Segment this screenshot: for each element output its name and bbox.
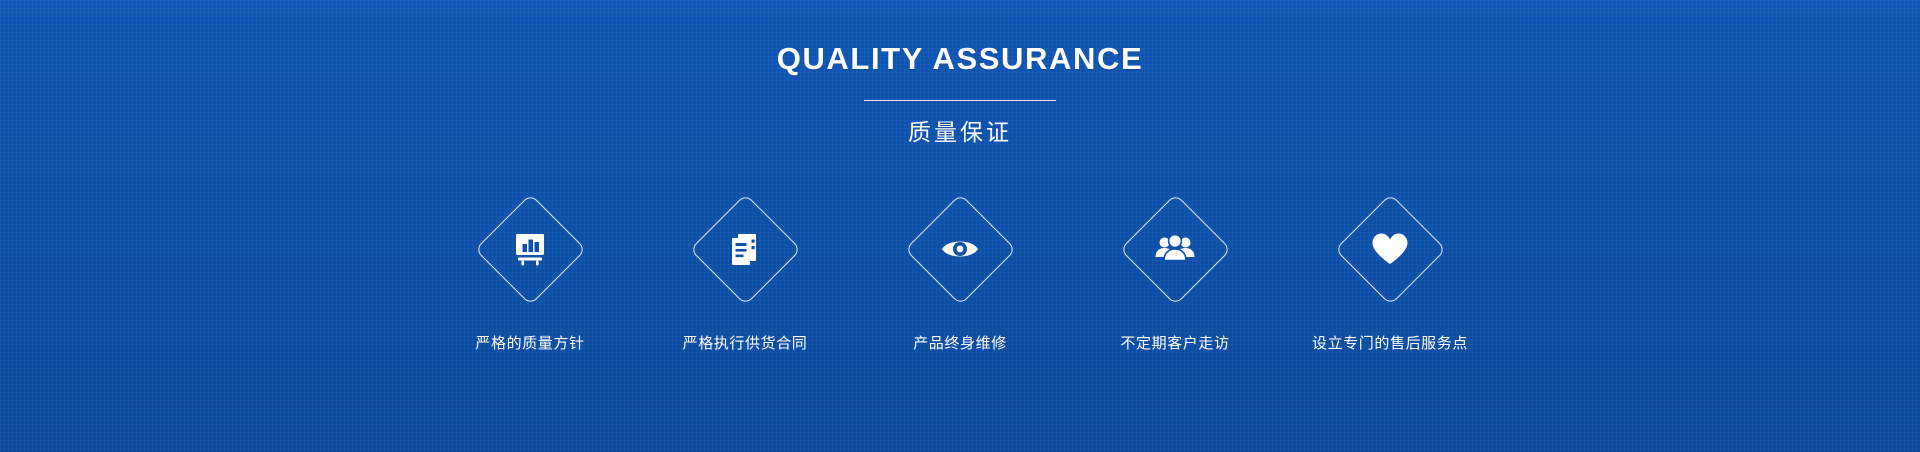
feature-label: 严格执行供货合同 bbox=[683, 333, 808, 355]
feature-icon-frame bbox=[1334, 193, 1446, 305]
feature-icon-frame bbox=[1119, 193, 1231, 305]
presentation-chart-icon bbox=[507, 226, 553, 272]
feature-icon-frame bbox=[474, 193, 586, 305]
users-group-icon bbox=[1152, 226, 1198, 272]
eye-icon bbox=[937, 226, 983, 272]
page-title: QUALITY ASSURANCE bbox=[0, 40, 1920, 78]
quality-assurance-banner: QUALITY ASSURANCE 质量保证 bbox=[0, 0, 1920, 452]
heart-icon bbox=[1367, 226, 1413, 272]
feature-icon-frame bbox=[904, 193, 1016, 305]
feature-item[interactable]: 产品终身维修 bbox=[853, 193, 1068, 355]
feature-item[interactable]: 严格执行供货合同 bbox=[638, 193, 853, 355]
feature-item[interactable]: 严格的质量方针 bbox=[423, 193, 638, 355]
banner-header: QUALITY ASSURANCE 质量保证 bbox=[0, 40, 1920, 147]
feature-label: 不定期客户走访 bbox=[1120, 333, 1229, 355]
feature-item[interactable]: 设立专门的售后服务点 bbox=[1283, 193, 1498, 355]
feature-item[interactable]: 不定期客户走访 bbox=[1068, 193, 1283, 355]
feature-label: 产品终身维修 bbox=[913, 333, 1007, 355]
feature-label: 严格的质量方针 bbox=[475, 333, 584, 355]
feature-list: 严格的质量方针 严格执行供货合同 bbox=[0, 193, 1920, 355]
document-contract-icon bbox=[722, 226, 768, 272]
page-subtitle: 质量保证 bbox=[0, 117, 1920, 147]
feature-label: 设立专门的售后服务点 bbox=[1312, 333, 1468, 355]
feature-icon-frame bbox=[689, 193, 801, 305]
title-divider bbox=[864, 100, 1056, 101]
